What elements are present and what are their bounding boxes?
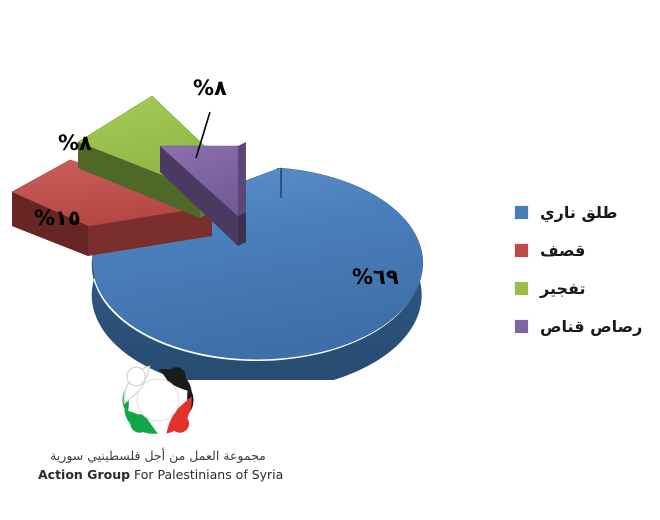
legend-swatch-icon-sniper-fire — [514, 319, 529, 334]
data-label-explosion: %٨ — [58, 131, 92, 155]
organization-name-arabic: مجموعة العمل من أجل فلسطينيي سورية — [38, 448, 278, 465]
legend-item-shelling[interactable]: قصف — [514, 231, 650, 269]
organization-logo — [115, 358, 201, 442]
legend-swatch-icon-gunfire — [514, 205, 529, 220]
legend-label-sniper-fire: رصاص قناص — [540, 317, 642, 336]
data-label-shelling: %١٥ — [34, 206, 81, 230]
legend-item-sniper-fire[interactable]: رصاص قناص — [514, 307, 650, 345]
pie-chart: %٦٩ %١٥ %٨ %٨ — [0, 0, 500, 380]
legend-label-gunfire: طلق ناري — [540, 203, 617, 222]
data-label-sniper: %٨ — [193, 76, 227, 100]
pie-slice-sniper-top-right — [238, 142, 246, 216]
organization-footer: مجموعة العمل من أجل فلسطينيي سورية Actio… — [38, 358, 278, 483]
pie-notch-wall-1 — [280, 168, 282, 198]
organization-name-english-rest: For Palestinians of Syria — [130, 467, 283, 482]
four-figures-circle-logo-icon — [115, 358, 201, 442]
organization-name-english-bold: Action Group — [38, 467, 130, 482]
organization-name-english: Action Group For Palestinians of Syria — [38, 466, 278, 484]
logo-inner-disc — [137, 379, 179, 421]
pie-chart-svg — [0, 0, 500, 380]
legend-swatch-icon-explosion — [514, 281, 529, 296]
legend-item-gunfire[interactable]: طلق ناري — [514, 193, 650, 231]
legend-label-explosion: تفجير — [540, 279, 586, 298]
chart-canvas: %٦٩ %١٥ %٨ %٨ طلق ناري قصف تفجير رصاص قن… — [0, 0, 660, 520]
chart-legend: طلق ناري قصف تفجير رصاص قناص — [514, 193, 650, 345]
legend-label-shelling: قصف — [540, 241, 585, 260]
legend-swatch-icon-shelling — [514, 243, 529, 258]
legend-item-explosion[interactable]: تفجير — [514, 269, 650, 307]
data-label-gunfire: %٦٩ — [352, 265, 399, 289]
pie-slice-sniper-side-right — [238, 212, 246, 246]
